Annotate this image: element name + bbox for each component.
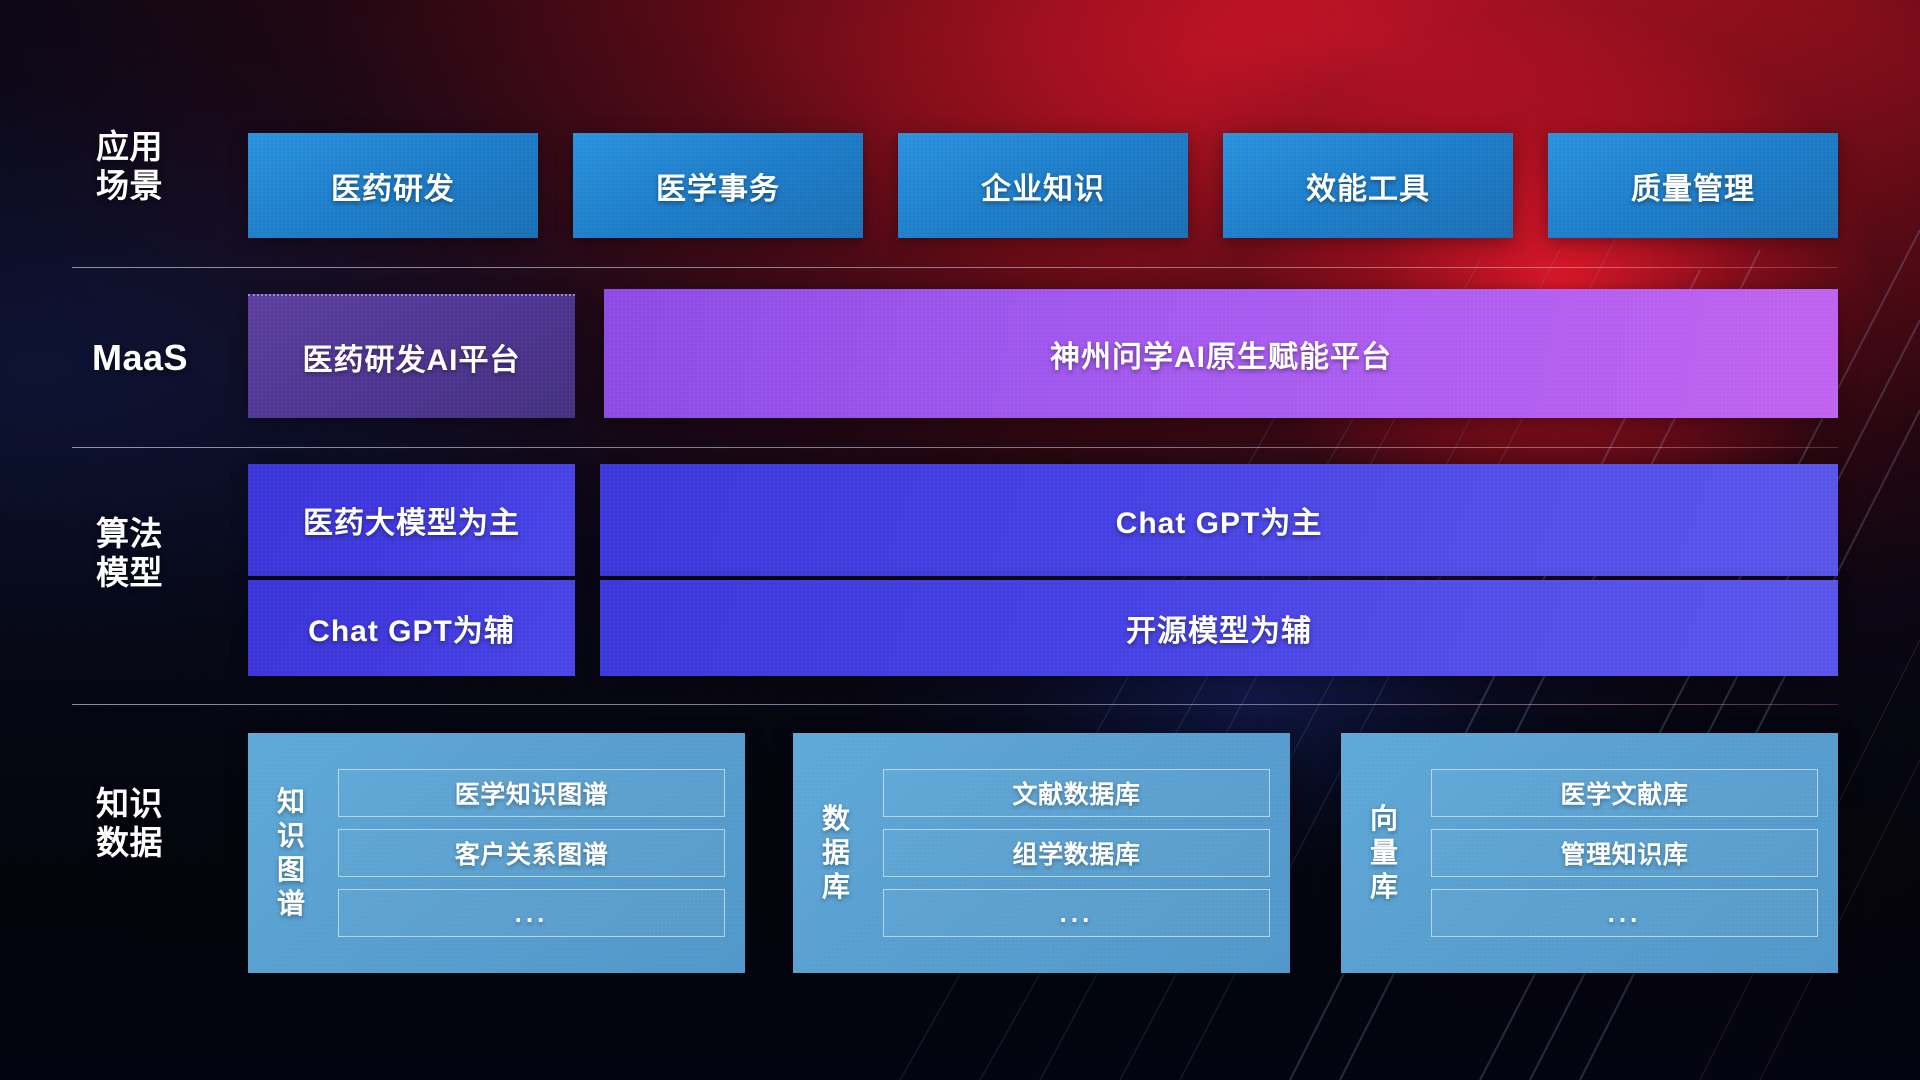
row-label-application-scenarios: 应用 场景 (96, 128, 236, 206)
algo-box-label: 医药大模型为主 (303, 498, 520, 542)
architecture-diagram-canvas: 应用 场景 医药研发 医学事务 企业知识 效能工具 质量管理 MaaS 医药研发… (0, 0, 1920, 1080)
knowledge-panel-title: 数据库 (793, 733, 873, 973)
knowledge-panel-title-text: 知识图谱 (277, 785, 305, 922)
knowledge-panel-title-text: 数据库 (822, 802, 850, 904)
knowledge-panel-items: 医学知识图谱 客户关系图谱 ... (328, 733, 745, 973)
row-label-knowledge-data: 知识 数据 (96, 785, 246, 863)
knowledge-panel-items: 医学文献库 管理知识库 ... (1421, 733, 1838, 973)
knowledge-item[interactable]: 文献数据库 (883, 769, 1270, 817)
algo-box-chatgpt-secondary[interactable]: Chat GPT为辅 (248, 580, 575, 676)
knowledge-panel-title: 向量库 (1341, 733, 1421, 973)
app-box-quality-management[interactable]: 质量管理 (1548, 133, 1838, 238)
knowledge-panel-title-text: 向量库 (1370, 802, 1398, 904)
knowledge-item-more[interactable]: ... (338, 889, 725, 937)
divider-after-maas-row (72, 447, 1838, 448)
app-box-enterprise-knowledge[interactable]: 企业知识 (898, 133, 1188, 238)
app-box-efficiency-tools[interactable]: 效能工具 (1223, 133, 1513, 238)
divider-after-application-row (72, 267, 1838, 268)
algo-box-medical-large-model-primary[interactable]: 医药大模型为主 (248, 464, 575, 576)
knowledge-panel-database[interactable]: 数据库 文献数据库 组学数据库 ... (793, 733, 1290, 973)
maas-box-label: 医药研发AI平台 (303, 335, 521, 379)
app-box-label: 医学事务 (656, 164, 780, 208)
knowledge-panel-vector-library[interactable]: 向量库 医学文献库 管理知识库 ... (1341, 733, 1838, 973)
algo-box-open-source-secondary[interactable]: 开源模型为辅 (600, 580, 1838, 676)
algo-box-label: Chat GPT为主 (1116, 498, 1323, 542)
knowledge-panel-title: 知识图谱 (248, 733, 328, 973)
row-label-algorithm-model: 算法 模型 (96, 515, 246, 593)
knowledge-item[interactable]: 管理知识库 (1431, 829, 1818, 877)
row-label-maas: MaaS (92, 337, 272, 379)
knowledge-item[interactable]: 客户关系图谱 (338, 829, 725, 877)
knowledge-item[interactable]: 医学文献库 (1431, 769, 1818, 817)
maas-box-shenzhou-wenxue-platform[interactable]: 神州问学AI原生赋能平台 (604, 289, 1838, 418)
maas-box-label: 神州问学AI原生赋能平台 (1050, 332, 1392, 376)
app-box-label: 质量管理 (1631, 164, 1755, 208)
app-box-label: 医药研发 (331, 164, 455, 208)
knowledge-item[interactable]: 医学知识图谱 (338, 769, 725, 817)
knowledge-item-more[interactable]: ... (1431, 889, 1818, 937)
app-box-label: 效能工具 (1306, 164, 1430, 208)
knowledge-item-more[interactable]: ... (883, 889, 1270, 937)
algo-box-label: 开源模型为辅 (1126, 606, 1312, 650)
knowledge-panel-knowledge-graph[interactable]: 知识图谱 医学知识图谱 客户关系图谱 ... (248, 733, 745, 973)
algo-box-chatgpt-primary[interactable]: Chat GPT为主 (600, 464, 1838, 576)
app-box-medical-rnd[interactable]: 医药研发 (248, 133, 538, 238)
app-box-label: 企业知识 (981, 164, 1105, 208)
divider-after-algorithm-row (72, 704, 1838, 705)
maas-box-medical-rnd-ai-platform[interactable]: 医药研发AI平台 (248, 294, 575, 418)
app-box-medical-affairs[interactable]: 医学事务 (573, 133, 863, 238)
knowledge-item[interactable]: 组学数据库 (883, 829, 1270, 877)
diagram-content: 应用 场景 医药研发 医学事务 企业知识 效能工具 质量管理 MaaS 医药研发… (0, 0, 1920, 1080)
knowledge-panel-items: 文献数据库 组学数据库 ... (873, 733, 1290, 973)
algo-box-label: Chat GPT为辅 (308, 606, 515, 650)
